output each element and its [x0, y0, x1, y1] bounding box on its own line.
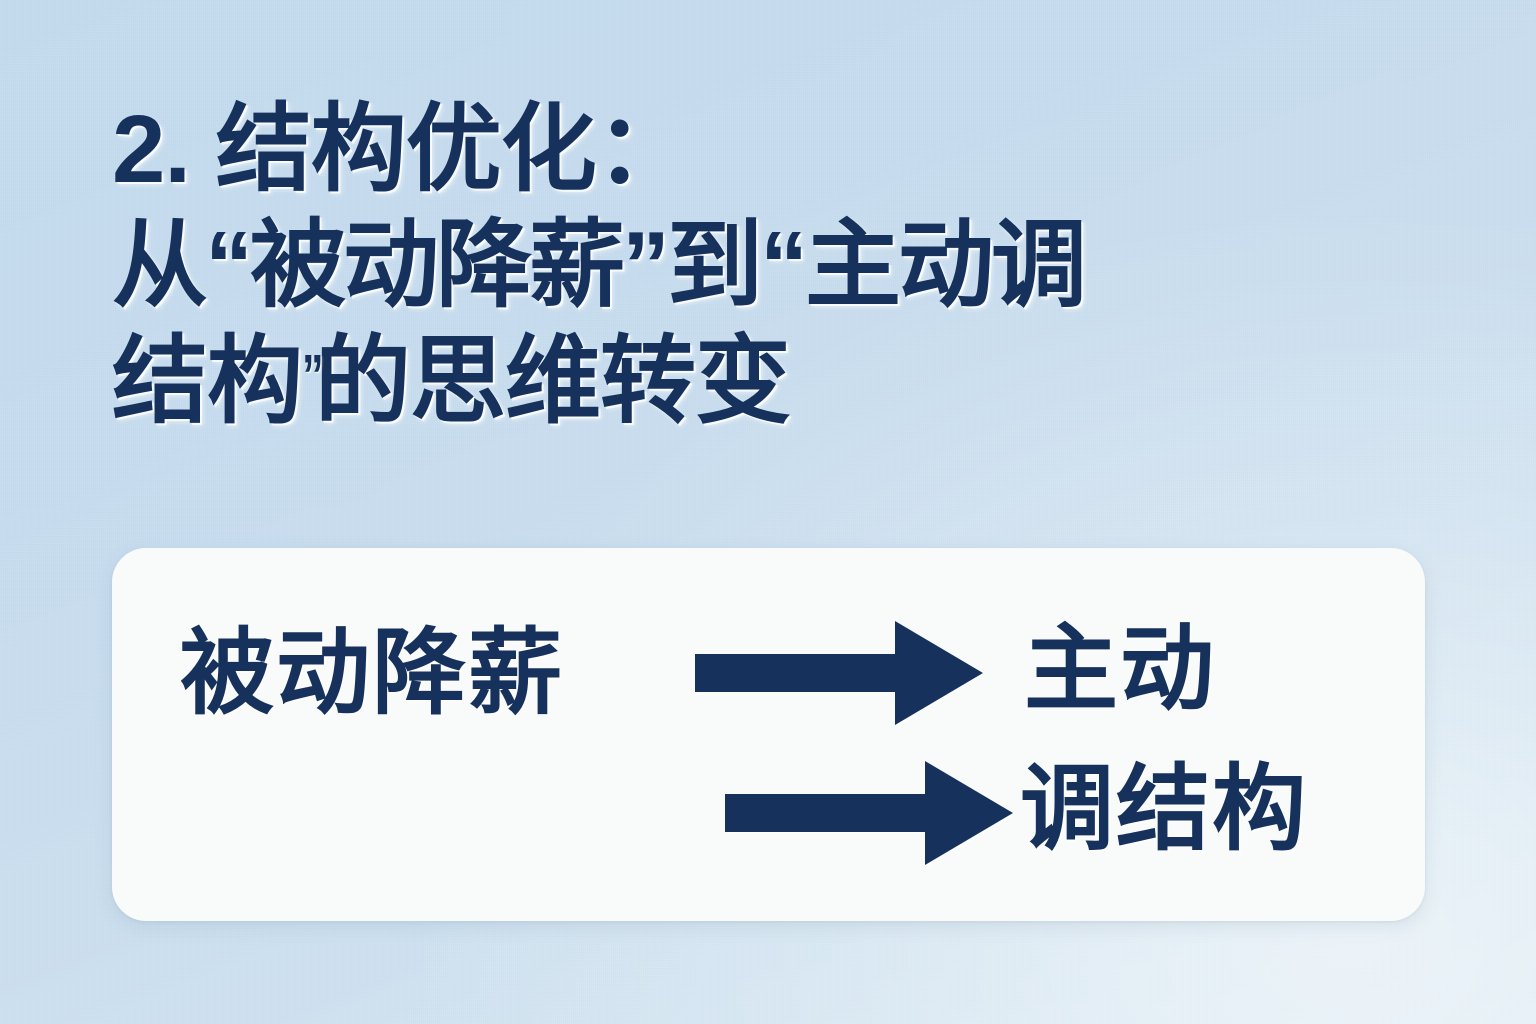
concept-card-content: 被动降薪 主动 调结构 [112, 548, 1425, 921]
right-arrow-icon [695, 621, 983, 725]
title-line-3-suffix: 的思维转变 [315, 328, 790, 435]
title-line-3: 结构”的思维转变 [112, 324, 1442, 440]
title-line-1: 2. 结构优化： [112, 92, 1442, 208]
flow-target-term-line-2: 调结构 [1020, 762, 1308, 856]
right-arrow-icon [725, 761, 1013, 865]
concept-card: 被动降薪 主动 调结构 [112, 548, 1425, 921]
title-line-2: 从“被动降薪”到“主动调 [112, 208, 1442, 324]
title-line-3-prefix: 结构 [112, 328, 302, 435]
closing-quote-glyph: ” [302, 340, 323, 412]
flow-source-term: 被动降薪 [180, 626, 564, 720]
page-title: 2. 结构优化： 从“被动降薪”到“主动调 结构”的思维转变 [112, 92, 1442, 440]
slide-canvas: 2. 结构优化： 从“被动降薪”到“主动调 结构”的思维转变 被动降薪 主动 调… [0, 0, 1536, 1024]
flow-target-term-line-1: 主动 [1024, 622, 1216, 716]
